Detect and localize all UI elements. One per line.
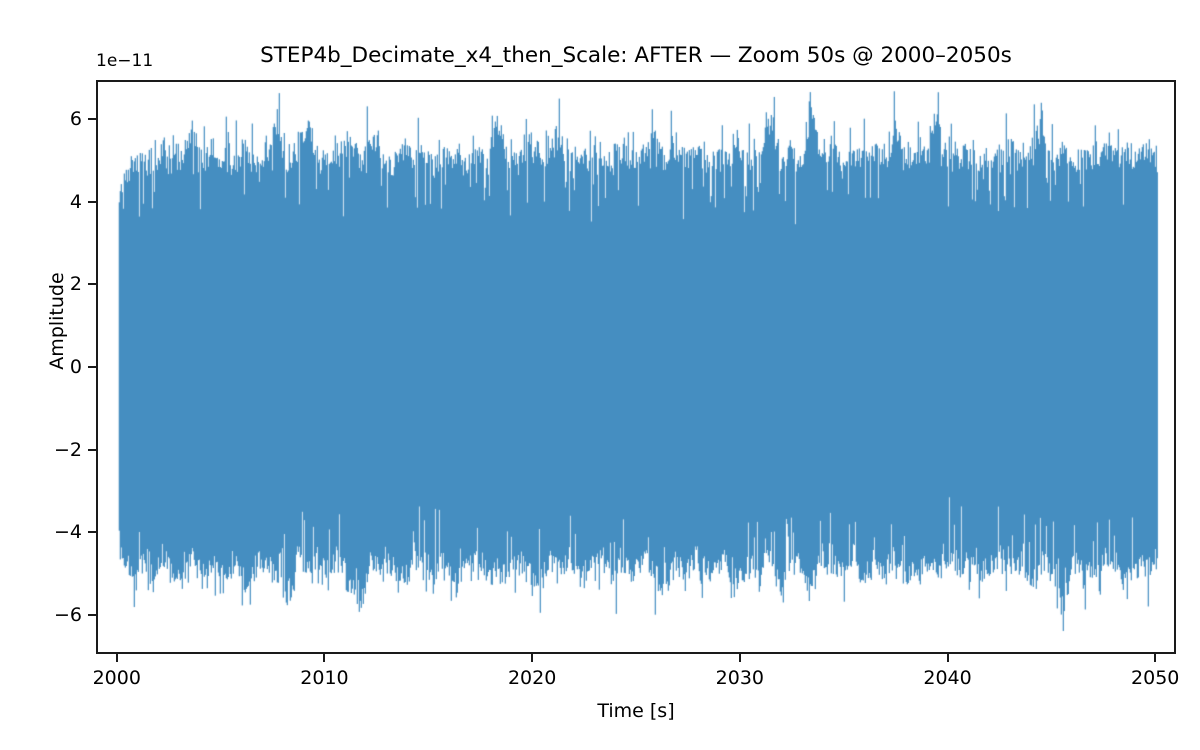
y-tick-label: 2 <box>70 273 82 295</box>
chart-title: STEP4b_Decimate_x4_then_Scale: AFTER — Z… <box>96 43 1176 69</box>
plot-axes-area <box>96 80 1176 654</box>
x-axis-title: Time [s] <box>96 700 1176 722</box>
x-tick-mark <box>531 654 533 662</box>
waveform-plot <box>98 82 1176 654</box>
x-tick-label: 2000 <box>93 667 141 689</box>
y-axis-title: Amplitude <box>46 241 68 401</box>
y-tick-mark <box>88 118 96 120</box>
x-tick-mark <box>323 654 325 662</box>
y-tick-mark <box>88 531 96 533</box>
y-tick-label: 6 <box>70 108 82 130</box>
x-tick-label: 2020 <box>508 667 556 689</box>
y-tick-label: −4 <box>54 521 82 543</box>
x-tick-label: 2040 <box>923 667 971 689</box>
y-tick-mark <box>88 366 96 368</box>
y-tick-label: −2 <box>54 439 82 461</box>
y-tick-label: 0 <box>70 356 82 378</box>
y-tick-label: −6 <box>54 604 82 626</box>
x-tick-mark <box>116 654 118 662</box>
y-tick-mark <box>88 283 96 285</box>
x-tick-label: 2030 <box>716 667 764 689</box>
x-tick-label: 2050 <box>1131 667 1179 689</box>
y-tick-label: 4 <box>70 191 82 213</box>
x-tick-mark <box>739 654 741 662</box>
x-tick-label: 2010 <box>300 667 348 689</box>
y-tick-mark <box>88 449 96 451</box>
x-tick-mark <box>1154 654 1156 662</box>
figure-canvas: 1e−11 STEP4b_Decimate_x4_then_Scale: AFT… <box>0 0 1200 750</box>
x-tick-mark <box>947 654 949 662</box>
y-tick-mark <box>88 201 96 203</box>
y-tick-mark <box>88 614 96 616</box>
